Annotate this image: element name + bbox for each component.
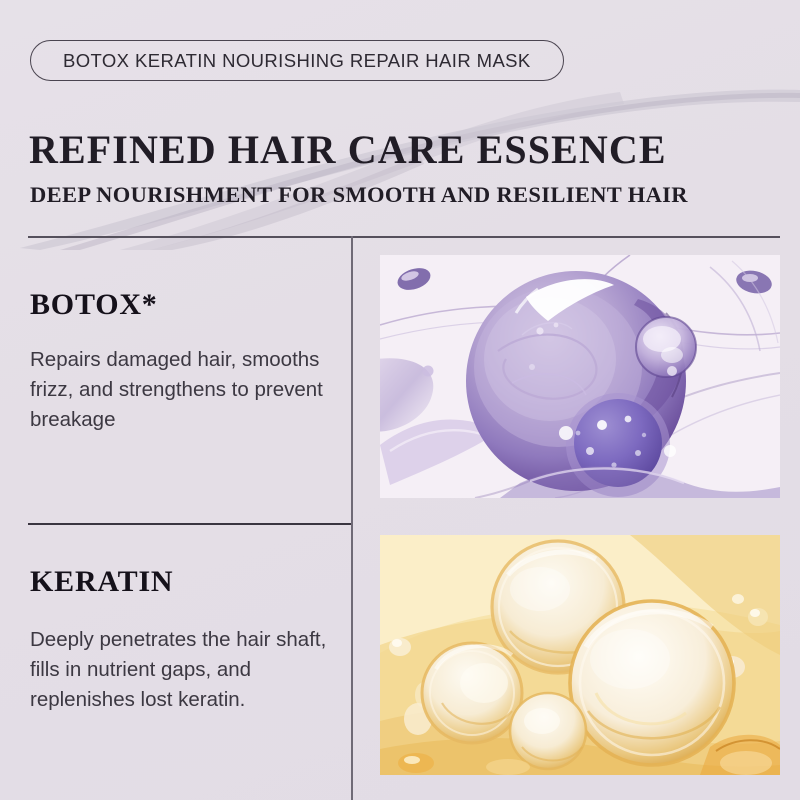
purple-serum-sphere-image	[380, 255, 780, 498]
divider-middle	[28, 523, 352, 525]
feature-body-botox: Repairs damaged hair, smooths frizz, and…	[30, 345, 330, 435]
golden-oil-bubbles-image	[380, 535, 780, 775]
badge-label: BOTOX KERATIN NOURISHING REPAIR HAIR MAS…	[63, 50, 531, 72]
divider-top	[28, 236, 780, 238]
feature-body-keratin: Deeply penetrates the hair shaft, fills …	[30, 625, 330, 715]
divider-vertical	[351, 236, 353, 800]
product-name-badge: BOTOX KERATIN NOURISHING REPAIR HAIR MAS…	[30, 40, 564, 81]
page-title: REFINED HAIR CARE ESSENCE	[29, 126, 667, 173]
feature-title-botox: BOTOX*	[30, 288, 158, 322]
page-subtitle: DEEP NOURISHMENT FOR SMOOTH AND RESILIEN…	[30, 182, 688, 208]
feature-title-keratin: KERATIN	[30, 565, 173, 599]
product-feature-banner: BOTOX KERATIN NOURISHING REPAIR HAIR MAS…	[0, 0, 800, 800]
